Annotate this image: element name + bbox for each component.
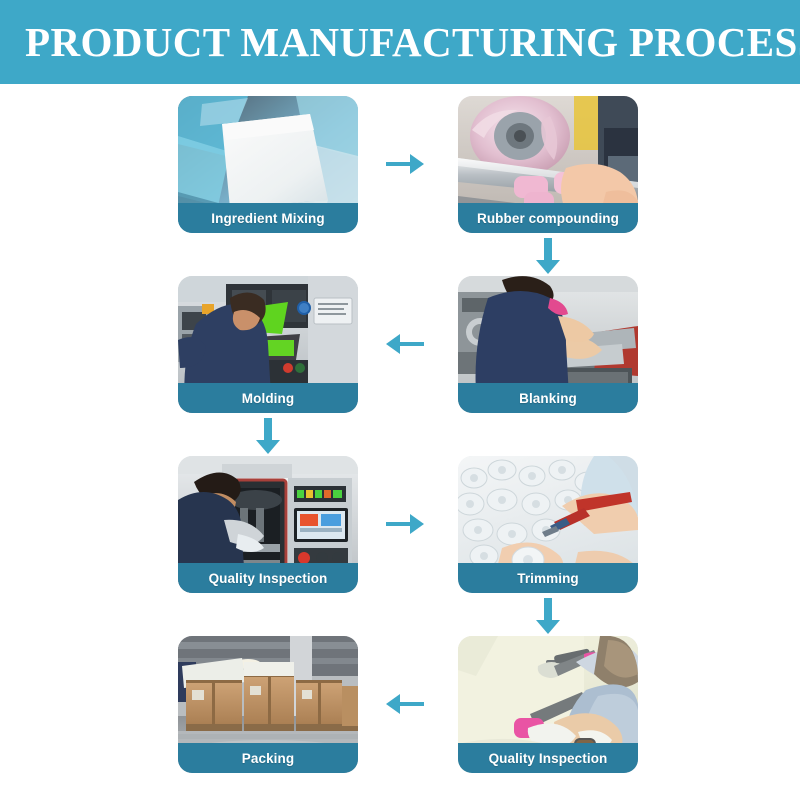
process-card-rubber-compounding[interactable]: Rubber compounding [458,96,638,233]
process-card-ingredient-mixing[interactable]: Ingredient Mixing [178,96,358,233]
flow-row-1: Ingredient Mixing [0,84,800,264]
process-card-label: Rubber compounding [458,203,638,233]
process-card-label: Molding [178,383,358,413]
arrow-right-row-3 [382,502,428,546]
flow-row-4: Packing [0,624,800,800]
process-card-molding[interactable]: Molding [178,276,358,413]
page-header: PRODUCT MANUFACTURING PROCESS [0,0,800,84]
process-card-packing[interactable]: Packing [178,636,358,773]
arrow-left-row-4 [382,682,428,726]
process-card-quality-inspection-bench[interactable]: Quality Inspection [458,636,638,773]
process-card-label: Ingredient Mixing [178,203,358,233]
arrow-left-row-2 [382,322,428,366]
process-flow-page: PRODUCT MANUFACTURING PROCESS [0,0,800,800]
process-card-quality-inspection-machine[interactable]: Quality Inspection [178,456,358,593]
process-card-label: Trimming [458,563,638,593]
flow-row-3: Quality Inspection [0,444,800,624]
process-card-label: Quality Inspection [178,563,358,593]
process-card-trimming[interactable]: Trimming [458,456,638,593]
process-card-label: Packing [178,743,358,773]
page-title: PRODUCT MANUFACTURING PROCESS [0,22,800,63]
process-card-label: Blanking [458,383,638,413]
arrow-right-row-1 [382,142,428,186]
process-flow-grid: Ingredient Mixing [0,84,800,800]
process-card-blanking[interactable]: Blanking [458,276,638,413]
process-card-label: Quality Inspection [458,743,638,773]
flow-row-2: Molding [0,264,800,444]
